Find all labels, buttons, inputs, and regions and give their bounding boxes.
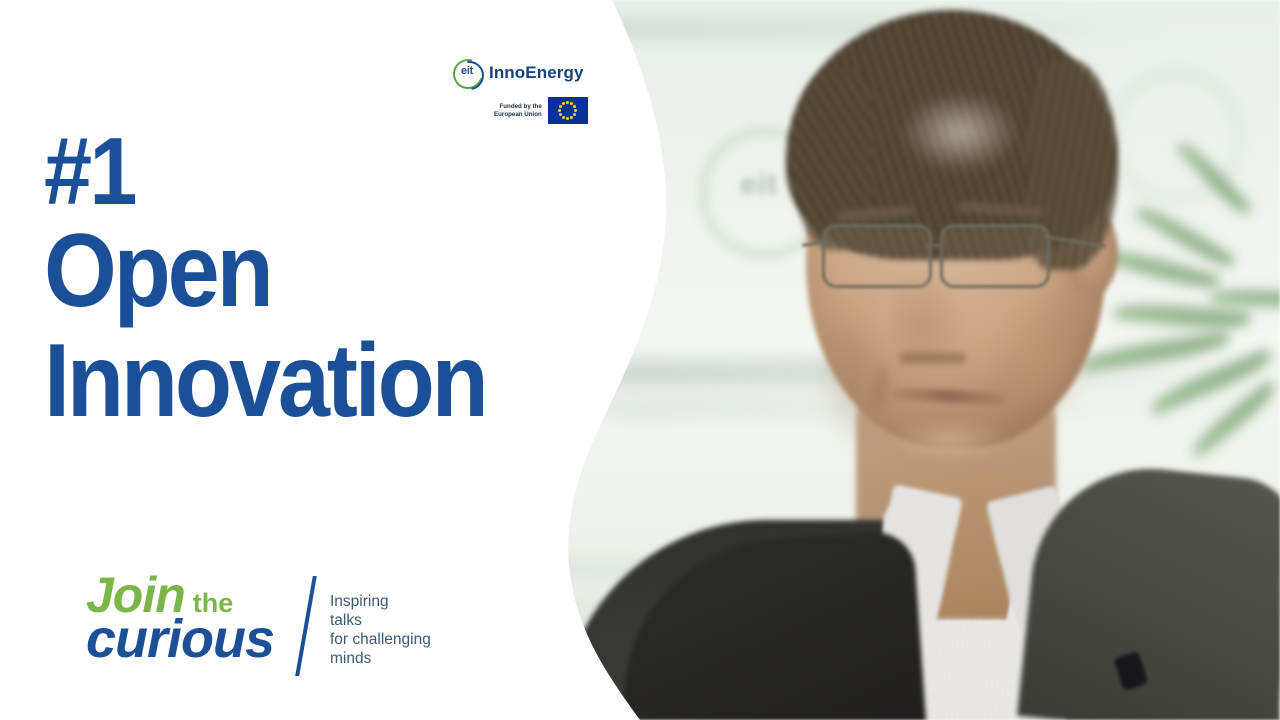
eu-star-icon [566, 101, 569, 104]
title-line-2: Innovation [44, 329, 512, 433]
title-line-1: Open [44, 219, 512, 323]
eit-innoenergy-logo: eit InnoEnergy Funded by the European Un… [452, 58, 602, 124]
page-title: #1 Open Innovation [44, 132, 564, 433]
glasses-temple-right [1044, 235, 1106, 248]
logo-primary-row: eit InnoEnergy [452, 58, 602, 88]
eit-mark-label: eit [452, 65, 482, 77]
slide-frame: eit [0, 0, 1280, 720]
eu-star-icon [562, 116, 565, 119]
join-the-curious-logo: Join the curious Inspiring talks for cha… [86, 572, 431, 676]
eu-star-icon [570, 116, 573, 119]
forehead-highlight [900, 92, 1020, 172]
eu-star-icon [573, 113, 576, 116]
eu-funding-line-1: Funded by the [494, 103, 542, 111]
divider-slash [295, 576, 317, 676]
cheek-shadow [1000, 300, 1090, 420]
nose [892, 268, 966, 364]
glasses-bridge [926, 244, 942, 247]
eu-star-icon [562, 102, 565, 105]
european-union-flag-icon [548, 97, 588, 124]
eu-funding-line-2: European Union [494, 111, 542, 119]
eit-circle-icon: eit [452, 58, 482, 88]
innoenergy-wordmark: InnoEnergy [489, 63, 584, 83]
campaign-wordmark: Join the curious [86, 572, 276, 665]
eu-star-icon [558, 109, 561, 112]
eu-star-icon [573, 105, 576, 108]
eu-star-icon [559, 105, 562, 108]
eu-star-icon [566, 117, 569, 120]
campaign-word-curious: curious [86, 615, 276, 665]
chin-highlight [890, 420, 1010, 460]
nostril-shadow [900, 352, 966, 364]
eu-star-icon [574, 109, 577, 112]
eu-funding-block: Funded by the European Union [452, 97, 602, 124]
episode-number: #1 [44, 132, 512, 213]
eu-funding-text: Funded by the European Union [494, 103, 542, 118]
campaign-tagline: Inspiring talks for challenging minds [330, 592, 431, 668]
